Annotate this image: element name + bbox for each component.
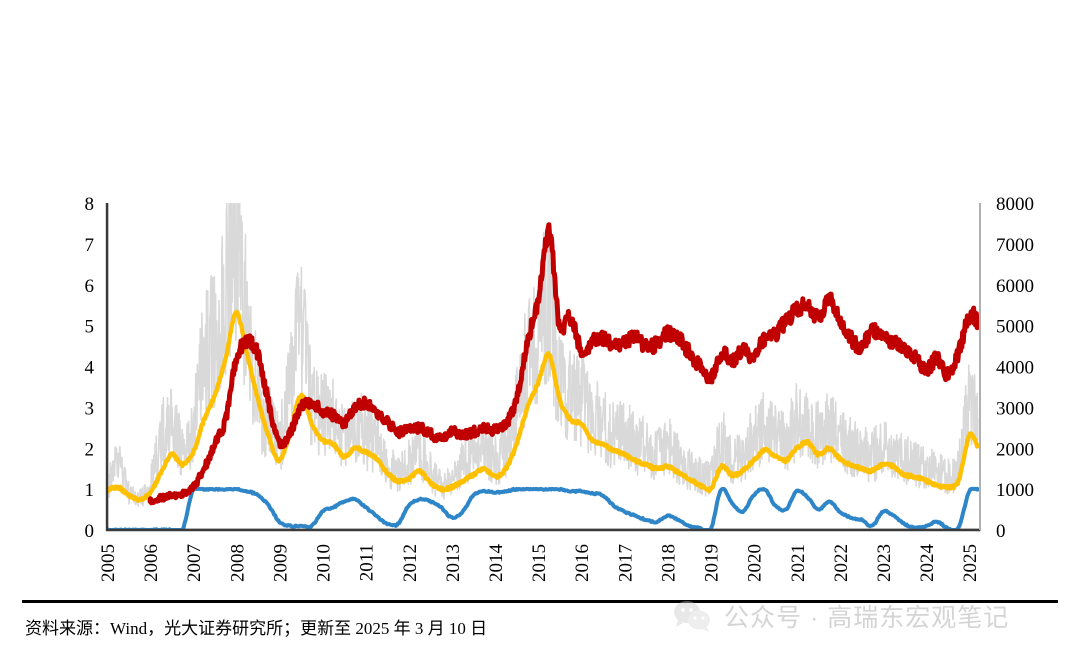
x-axis-tick: 2013 [443,544,464,582]
right-axis-tick: 4000 [996,358,1034,379]
left-axis-tick: 4 [85,358,95,379]
watermark-text: 公众号 · 高瑞东宏观笔记 [724,598,1009,634]
right-axis-tick: 0 [996,521,1006,542]
x-axis-tick: 2007 [184,544,205,582]
x-axis-tick: 2014 [486,544,507,583]
x-axis-tick: 2006 [141,544,162,582]
x-axis-tick: 2017 [615,544,636,582]
left-axis-tick: 3 [85,398,95,419]
x-axis-tick: 2011 [357,544,378,581]
x-axis-tick: 2016 [572,544,593,582]
wechat-icon [672,599,712,633]
x-axis-tick: 2023 [874,544,895,582]
left-axis-tick: 6 [85,276,95,297]
line-chart: 0123456780100020003000400050006000700080… [0,0,1080,655]
figure-container: 图 3： 市场换手率边际放缓，Wind 全 A 流动市值换手率 （20MA）约为… [0,0,1080,655]
x-axis-tick: 2009 [270,544,291,582]
right-axis-tick: 5000 [996,317,1034,338]
right-axis-tick: 8000 [996,194,1034,215]
x-axis-tick: 2021 [788,544,809,582]
x-axis-tick: 2005 [98,544,119,582]
left-axis-tick: 7 [85,235,95,256]
right-axis-tick: 3000 [996,398,1034,419]
x-axis-tick: 2019 [702,544,723,582]
plot-clip-top [0,0,1080,203]
right-axis-tick: 6000 [996,276,1034,297]
right-axis-tick: 2000 [996,439,1034,460]
watermark: 公众号 · 高瑞东宏观笔记 [672,598,1009,634]
left-axis-tick: 0 [85,521,95,542]
left-axis-tick: 2 [85,439,95,460]
x-axis-tick: 2022 [831,544,852,582]
x-axis-tick: 2025 [960,544,981,582]
x-axis-tick: 2020 [745,544,766,582]
x-axis-tick: 2015 [529,544,550,582]
left-axis-tick: 8 [85,194,95,215]
x-axis-tick: 2010 [314,544,335,582]
x-axis-tick: 2008 [227,544,248,582]
series-line [107,489,978,530]
left-axis-tick: 5 [85,317,95,338]
right-axis-tick: 7000 [996,235,1034,256]
right-axis-tick: 1000 [996,480,1034,501]
source-note: 资料来源：Wind，光大证券研究所；更新至 2025 年 3 月 10 日 [25,614,487,639]
x-axis-tick: 2018 [658,544,679,582]
x-axis-tick: 2024 [917,544,938,583]
left-axis-tick: 1 [85,480,95,501]
x-axis-tick: 2012 [400,544,421,582]
